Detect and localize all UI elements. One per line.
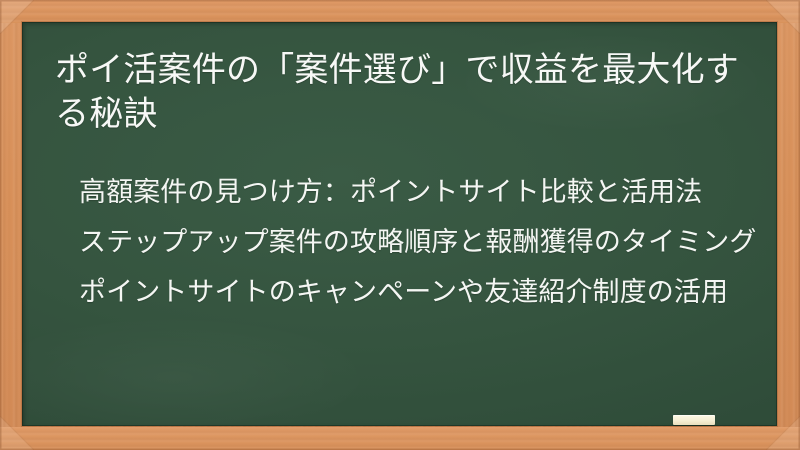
- list-item: 高額案件の見つけ方：ポイントサイト比較と活用法: [79, 172, 757, 212]
- chalk-stick-icon: [673, 415, 715, 425]
- frame-rail-top: [0, 0, 800, 23]
- chalkboard-slide: ポイ活案件の「案件選び」で収益を最大化する秘訣 高額案件の見つけ方：ポイントサイ…: [0, 0, 800, 450]
- chalkboard-surface: ポイ活案件の「案件選び」で収益を最大化する秘訣 高額案件の見つけ方：ポイントサイ…: [22, 22, 777, 426]
- page-title: ポイ活案件の「案件選び」で収益を最大化する秘訣: [55, 48, 755, 136]
- list-item: ステップアップ案件の攻略順序と報酬獲得のタイミング: [79, 222, 757, 262]
- topic-list: 高額案件の見つけ方：ポイントサイト比較と活用法 ステップアップ案件の攻略順序と報…: [79, 172, 757, 312]
- list-item: ポイントサイトのキャンペーンや友達紹介制度の活用: [79, 272, 757, 312]
- frame-rail-bottom: [0, 427, 800, 450]
